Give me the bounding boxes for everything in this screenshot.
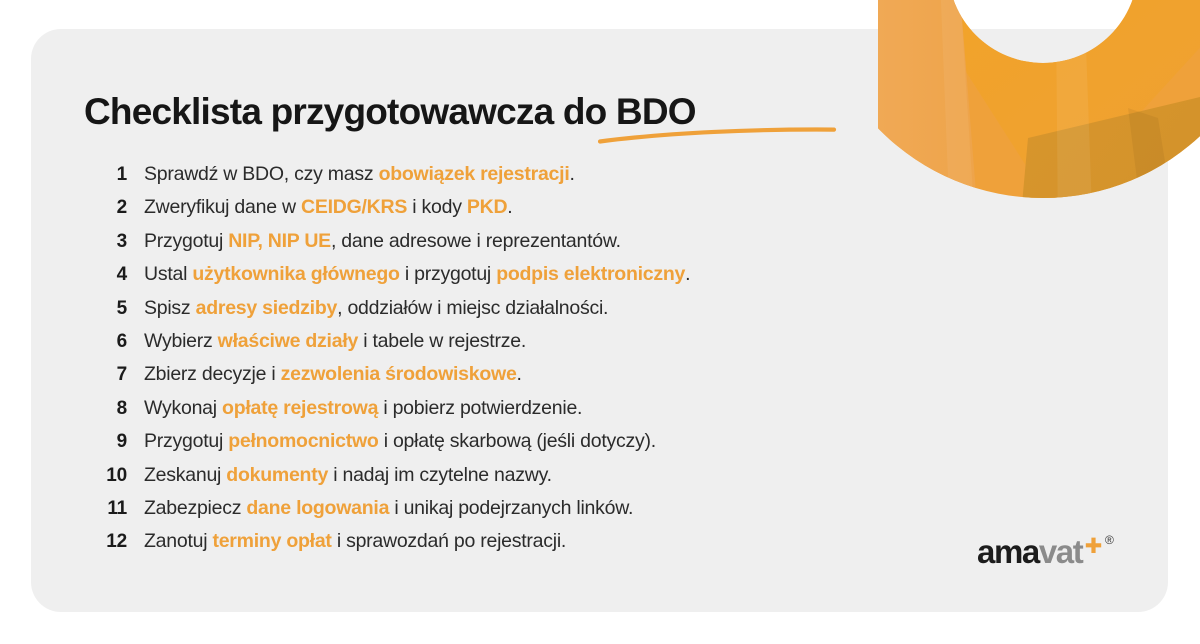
list-item-text: Wybierz właściwe działy i tabele w rejes… — [144, 325, 904, 358]
list-item-text-mid: i kody — [407, 196, 467, 218]
list-item-number: 9 — [84, 425, 144, 458]
list-item-text-suffix: . — [569, 163, 574, 185]
list-item-highlight-2: PKD — [467, 196, 507, 218]
list-item-text: Zabezpiecz dane logowania i unikaj podej… — [144, 492, 904, 525]
list-item-highlight: dokumenty — [226, 464, 328, 486]
list-item-number: 11 — [84, 492, 144, 525]
list-item-number: 2 — [84, 191, 144, 224]
logo-wordmark: amavat — [977, 534, 1082, 570]
list-item: 2Zweryfikuj dane w CEIDG/KRS i kody PKD. — [84, 191, 904, 224]
list-item: 7Zbierz decyzje i zezwolenia środowiskow… — [84, 358, 904, 391]
list-item-text-suffix: . — [517, 363, 522, 385]
list-item: 10Zeskanuj dokumenty i nadaj im czytelne… — [84, 459, 904, 492]
logo-text-t: t — [1073, 533, 1083, 570]
list-item: 1Sprawdź w BDO, czy masz obowiązek rejes… — [84, 158, 904, 191]
checklist: 1Sprawdź w BDO, czy masz obowiązek rejes… — [84, 158, 904, 559]
list-item-highlight: właściwe działy — [218, 330, 358, 352]
list-item-text-suffix: . — [507, 196, 512, 218]
list-item-text-prefix: Przygotuj — [144, 430, 228, 452]
list-item: 8Wykonaj opłatę rejestrową i pobierz pot… — [84, 392, 904, 425]
title-underline-swoosh-icon — [598, 126, 838, 144]
list-item-text-prefix: Zabezpiecz — [144, 497, 246, 519]
title-block: Checklista przygotowawcza do BDO — [84, 90, 884, 152]
list-item-number: 5 — [84, 292, 144, 325]
list-item-number: 6 — [84, 325, 144, 358]
list-item: 3Przygotuj NIP, NIP UE, dane adresowe i … — [84, 225, 904, 258]
list-item-text-prefix: Przygotuj — [144, 230, 228, 252]
list-item-number: 8 — [84, 392, 144, 425]
list-item-text-suffix: i opłatę skarbową (jeśli dotyczy). — [379, 430, 656, 452]
list-item-number: 7 — [84, 358, 144, 391]
list-item-text-prefix: Zbierz decyzje i — [144, 363, 281, 385]
list-item: 12Zanotuj terminy opłat i sprawozdań po … — [84, 525, 904, 558]
logo-text-va: va — [1039, 533, 1073, 570]
list-item-text-prefix: Sprawdź w BDO, czy masz — [144, 163, 379, 185]
list-item: 9Przygotuj pełnomocnictwo i opłatę skarb… — [84, 425, 904, 458]
list-item-highlight: obowiązek rejestracji — [379, 163, 570, 185]
list-item-text: Zeskanuj dokumenty i nadaj im czytelne n… — [144, 459, 904, 492]
list-item-highlight: terminy opłat — [212, 530, 331, 552]
list-item-text-suffix: , dane adresowe i reprezentantów. — [331, 230, 621, 252]
list-item: 6Wybierz właściwe działy i tabele w reje… — [84, 325, 904, 358]
list-item-highlight: CEIDG/KRS — [301, 196, 407, 218]
list-item-text-mid: i przygotuj — [400, 263, 496, 285]
list-item-text: Zbierz decyzje i zezwolenia środowiskowe… — [144, 358, 904, 391]
list-item-highlight: adresy siedziby — [196, 297, 338, 319]
list-item-highlight: opłatę rejestrową — [222, 397, 378, 419]
list-item-number: 12 — [84, 525, 144, 558]
list-item-text-suffix: i unikaj podejrzanych linków. — [389, 497, 633, 519]
list-item-highlight: zezwolenia środowiskowe — [281, 363, 517, 385]
list-item-text: Przygotuj pełnomocnictwo i opłatę skarbo… — [144, 425, 904, 458]
list-item-text: Sprawdź w BDO, czy masz obowiązek rejest… — [144, 158, 904, 191]
list-item-highlight: NIP, NIP UE — [228, 230, 331, 252]
list-item-highlight: pełnomocnictwo — [228, 430, 378, 452]
list-item-text: Ustal użytkownika głównego i przygotuj p… — [144, 258, 904, 291]
list-item-text-prefix: Zanotuj — [144, 530, 212, 552]
list-item-text-suffix: , oddziałów i miejsc działalności. — [337, 297, 608, 319]
list-item-number: 10 — [84, 459, 144, 492]
list-item-text-prefix: Ustal — [144, 263, 192, 285]
list-item-text-suffix: i tabele w rejestrze. — [358, 330, 526, 352]
list-item-highlight: dane logowania — [246, 497, 389, 519]
list-item-text-prefix: Wybierz — [144, 330, 218, 352]
list-item-text: Spisz adresy siedziby, oddziałów i miejs… — [144, 292, 904, 325]
amavat-logo: amavat ® — [977, 534, 1122, 572]
infographic-canvas: Checklista przygotowawcza do BDO 1Sprawd… — [0, 0, 1200, 644]
list-item: 11Zabezpiecz dane logowania i unikaj pod… — [84, 492, 904, 525]
list-item-text: Przygotuj NIP, NIP UE, dane adresowe i r… — [144, 225, 904, 258]
list-item: 5Spisz adresy siedziby, oddziałów i miej… — [84, 292, 904, 325]
list-item-text: Wykonaj opłatę rejestrową i pobierz potw… — [144, 392, 904, 425]
list-item-text-suffix: i pobierz potwierdzenie. — [378, 397, 582, 419]
registered-trademark-symbol: ® — [1105, 534, 1114, 546]
list-item-text-prefix: Zweryfikuj dane w — [144, 196, 301, 218]
list-item-text-suffix: i sprawozdań po rejestracji. — [332, 530, 566, 552]
list-item-number: 1 — [84, 158, 144, 191]
list-item-text: Zanotuj terminy opłat i sprawozdań po re… — [144, 525, 904, 558]
list-item-highlight: użytkownika głównego — [192, 263, 399, 285]
list-item-text-suffix: i nadaj im czytelne nazwy. — [328, 464, 552, 486]
list-item-number: 3 — [84, 225, 144, 258]
list-item-text-suffix: . — [685, 263, 690, 285]
list-item-number: 4 — [84, 258, 144, 291]
list-item-text: Zweryfikuj dane w CEIDG/KRS i kody PKD. — [144, 191, 904, 224]
list-item-text-prefix: Wykonaj — [144, 397, 222, 419]
list-item: 4Ustal użytkownika głównego i przygotuj … — [84, 258, 904, 291]
list-item-highlight-2: podpis elektroniczny — [496, 263, 685, 285]
list-item-text-prefix: Spisz — [144, 297, 196, 319]
logo-plus-icon — [1085, 537, 1102, 554]
list-item-text-prefix: Zeskanuj — [144, 464, 226, 486]
logo-text-ama: ama — [977, 533, 1039, 570]
